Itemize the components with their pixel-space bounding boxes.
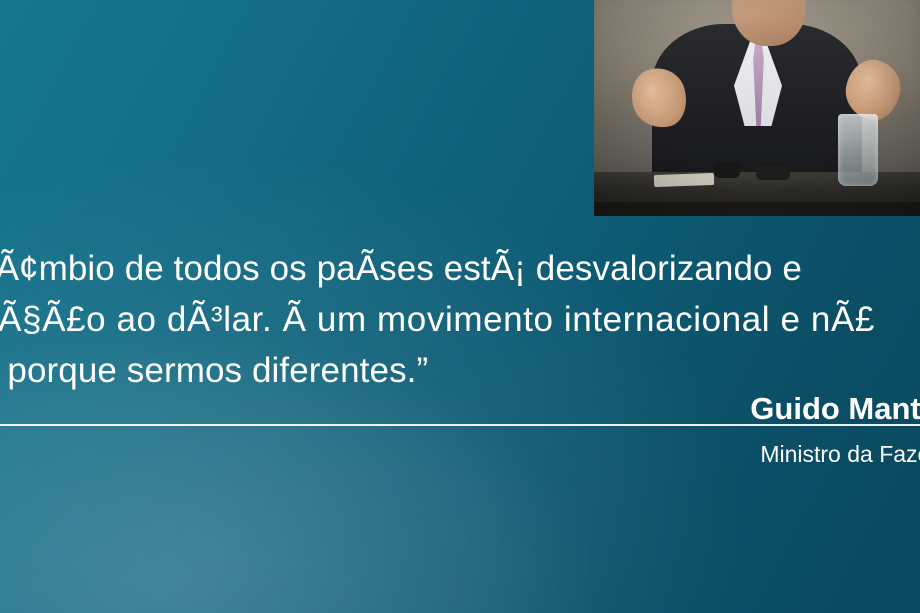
quote-line-2: aÃ§Ã£o ao dÃ³lar. Ã um movimento interna… (0, 294, 920, 345)
photo-vignette (594, 0, 920, 216)
quote-line-3: n porque sermos diferentes.” (0, 345, 920, 396)
attribution-block: Guido Mante Ministro da Fazer (298, 390, 920, 468)
attribution-role: Ministro da Fazer (298, 440, 920, 468)
quote-text: cÃ¢mbio de todos os paÃ­ses estÃ¡ desval… (0, 243, 920, 396)
quote-card: cÃ¢mbio de todos os paÃ­ses estÃ¡ desval… (0, 0, 920, 613)
speaker-photo (594, 0, 920, 216)
quote-line-1: cÃ¢mbio de todos os paÃ­ses estÃ¡ desval… (0, 243, 920, 294)
attribution-name: Guido Mante (298, 390, 920, 428)
